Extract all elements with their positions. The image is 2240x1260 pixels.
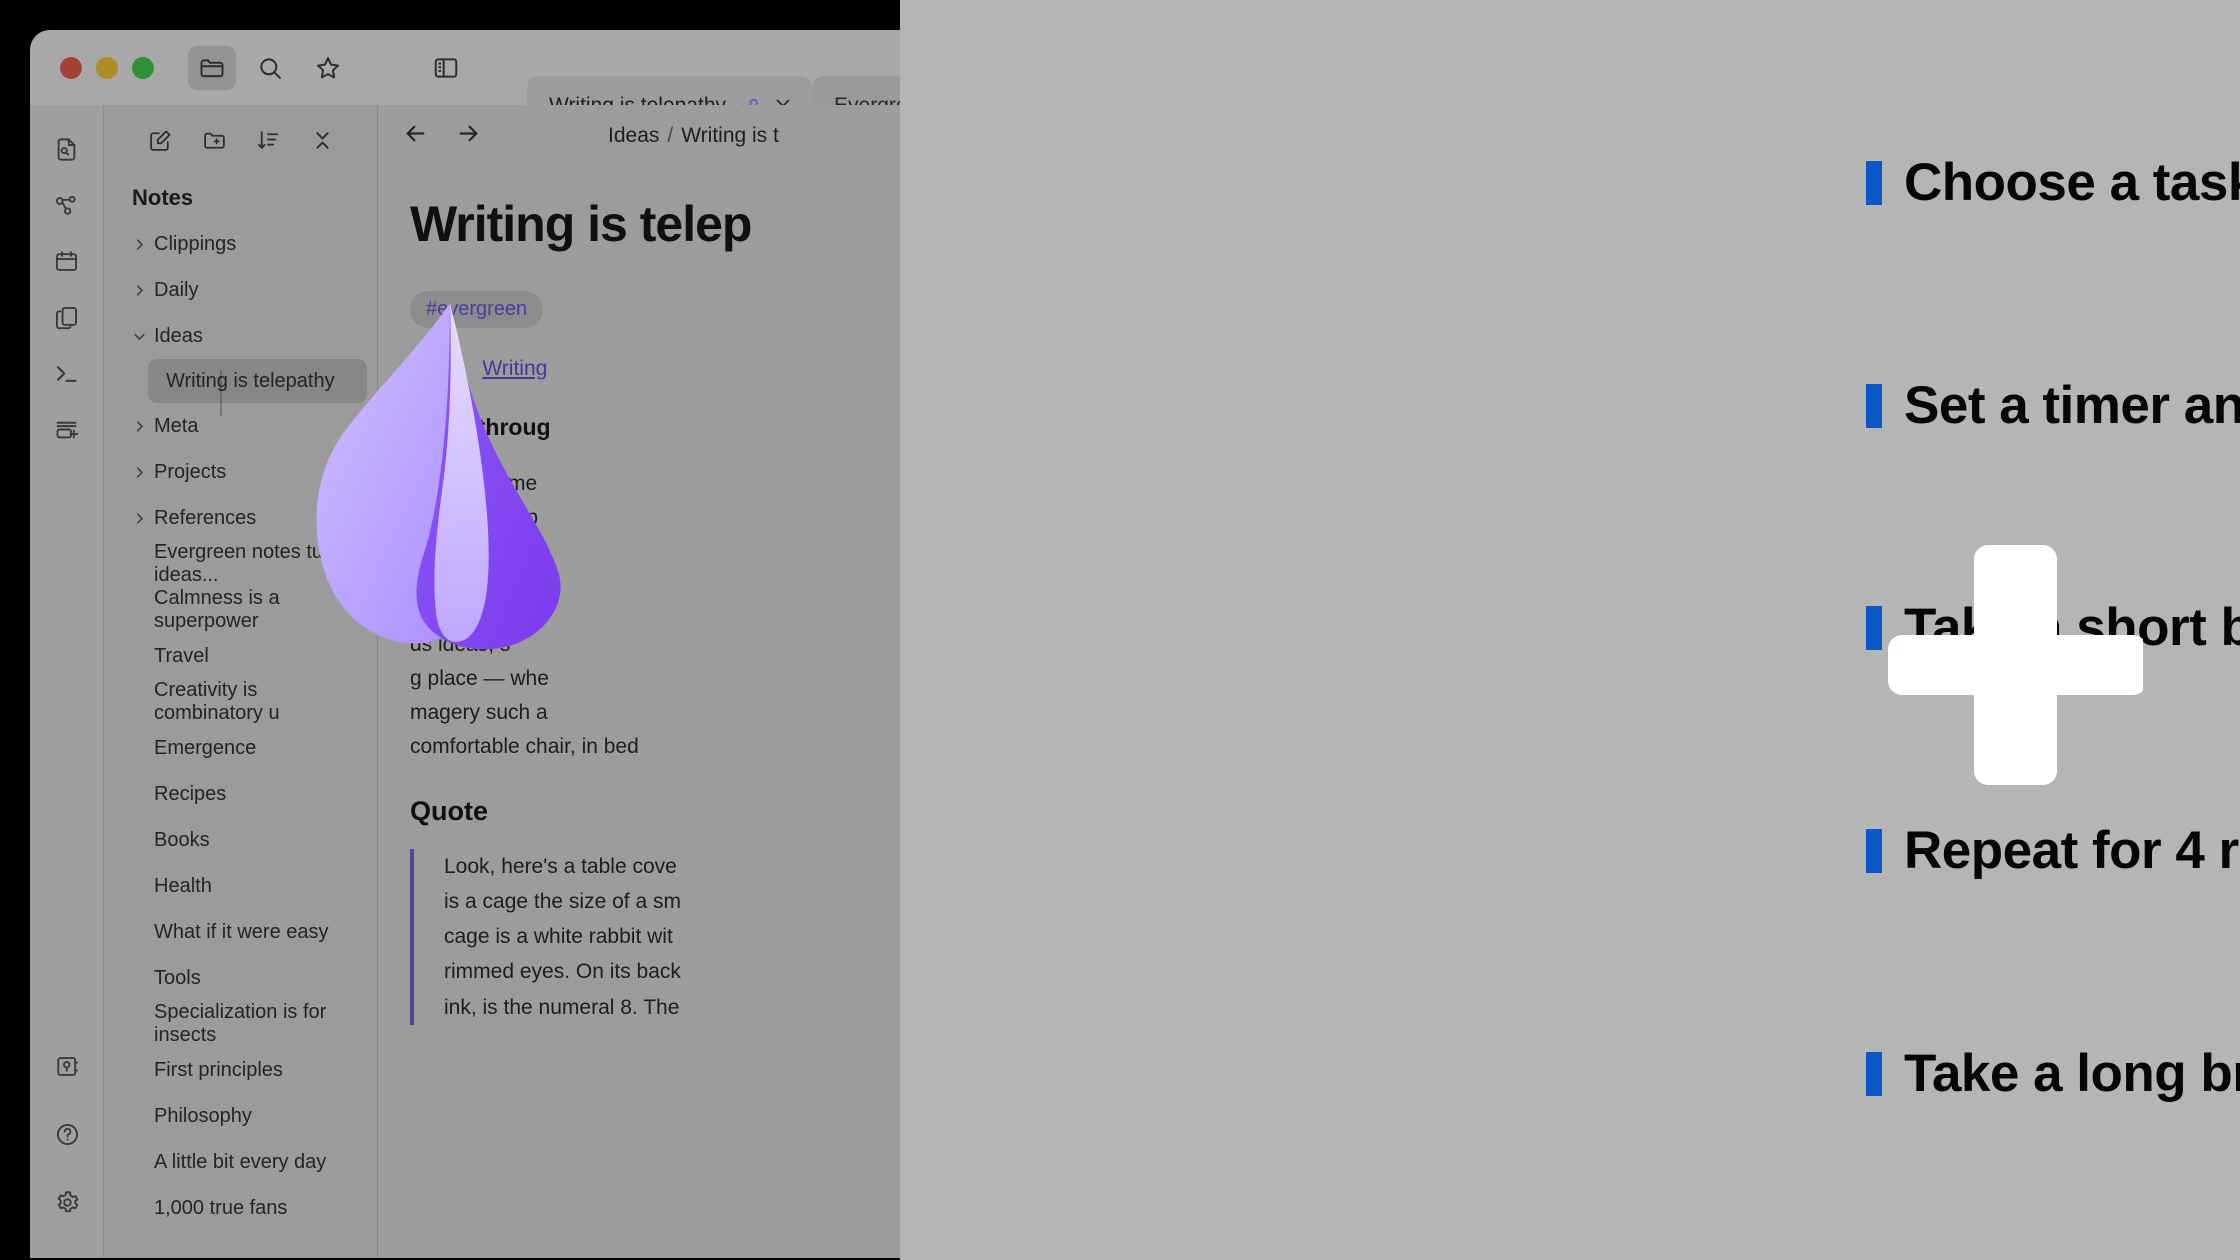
new-note-icon[interactable] (138, 119, 182, 161)
quote-line: ink, is the numeral 8. The (444, 990, 920, 1025)
bullet-marker (1866, 606, 1882, 650)
sidebar-item-ideas[interactable]: Ideas (104, 313, 367, 359)
list-item[interactable]: Travel (104, 633, 367, 679)
page-title: Writing is telep (410, 195, 920, 253)
chevron-down-icon (132, 329, 154, 344)
icon-rail-bottom (30, 1038, 104, 1230)
settings-gear-icon[interactable] (41, 1174, 93, 1230)
list-item[interactable]: What if it were easy (104, 909, 367, 955)
app-window: Writing is telepathy Evergre (30, 30, 920, 1258)
pomodoro-steps-list: Choose a task Set a timer and work for 2… (1866, 0, 2240, 1260)
add-panel-icon[interactable] (41, 401, 93, 457)
list-item[interactable]: Emergence (104, 725, 367, 771)
files-copy-icon[interactable] (41, 289, 93, 345)
sidebar-item-label: References (154, 507, 256, 530)
notes-tree: Clippings Daily Ideas Writing is telepat… (104, 221, 377, 1231)
body-line: e, a trans (410, 593, 920, 627)
list-item[interactable]: Evergreen notes turn ideas... (104, 541, 367, 587)
new-folder-icon[interactable] (192, 119, 236, 161)
file-search-icon[interactable] (41, 121, 93, 177)
sidebar-item-meta[interactable]: Meta (104, 403, 367, 449)
list-item: Set a timer and work for 25 minutes (1866, 375, 2240, 436)
sidebar-item-label: Tools (154, 967, 201, 990)
list-item[interactable]: Tools (104, 955, 367, 1001)
sidebar-item-label: Clippings (154, 233, 236, 256)
sidebar-item-label: Health (154, 875, 212, 898)
body-line: es: (410, 535, 920, 569)
sidebar-item-projects[interactable]: Projects (104, 449, 367, 495)
list-item: Choose a task (1866, 152, 2240, 213)
terminal-icon[interactable] (41, 345, 93, 401)
tag-evergreen[interactable]: #evergreen (410, 291, 543, 328)
list-item[interactable]: Specialization is for insects (104, 1001, 367, 1047)
breadcrumb-folder[interactable]: Ideas (608, 124, 659, 147)
sidebar-item-label: 1,000 true fans (154, 1197, 287, 1220)
overlay-panel: Choose a task Set a timer and work for 2… (900, 0, 2240, 1260)
sidebar-item-label: A little bit every day (154, 1151, 326, 1174)
help-icon[interactable] (41, 1106, 93, 1162)
list-item[interactable]: First principles (104, 1047, 367, 1093)
sidebar-item-label: Evergreen notes turn ideas... (154, 541, 367, 587)
icon-rail (30, 105, 104, 1258)
breadcrumb-separator: / (659, 124, 681, 147)
editor-pane: Ideas/Writing is t Writing is telep #eve… (378, 105, 920, 1258)
body-line: l through time (410, 467, 920, 501)
list-item[interactable]: Health (104, 863, 367, 909)
step-label: Choose a task (1904, 152, 2240, 213)
close-window-button[interactable] (60, 57, 82, 79)
note-document: Writing is telep #evergreen From Writing… (378, 167, 920, 1025)
sidebar-item-label: Specialization is for insects (154, 1001, 367, 1047)
body-line: g place — whe (410, 662, 920, 696)
notes-sidebar: Notes Clippings Daily Ideas Writing is t… (104, 105, 378, 1258)
step-label: Set a timer and work for 25 minutes (1904, 375, 2240, 436)
sidebar-item-label: Projects (154, 461, 226, 484)
bullet-marker (1866, 161, 1882, 205)
step-label: Take a long break for 15 - 30 minutes (1904, 1043, 2240, 1104)
list-item: Take a short break (1866, 597, 2240, 658)
section-heading: travel throug (410, 414, 920, 441)
chevron-right-icon (132, 283, 154, 298)
sidebar-item-label: Calmness is a superpower (154, 587, 367, 633)
bullet-marker (1866, 829, 1882, 873)
list-item[interactable]: A little bit every day (104, 1139, 367, 1185)
sidebar-item-clippings[interactable]: Clippings (104, 221, 367, 267)
chevron-right-icon (132, 465, 154, 480)
sidebar-item-daily[interactable]: Daily (104, 267, 367, 313)
quote-line: rimmed eyes. On its back (444, 954, 920, 989)
bullet-marker (1866, 1052, 1882, 1096)
sidebar-heading: Notes (104, 167, 377, 221)
graph-icon[interactable] (41, 177, 93, 233)
step-label: Take a short break (1904, 597, 2240, 658)
sidebar-item-label: Emergence (154, 737, 256, 760)
blockquote: Look, here's a table cove is a cage the … (410, 849, 920, 1025)
sidebar-item-label: Writing is telepathy (166, 370, 335, 393)
sidebar-item-label: Books (154, 829, 210, 852)
arrow-left-icon[interactable] (402, 120, 429, 152)
body-line: comfortable chair, in bed (410, 730, 920, 764)
chevron-right-icon (132, 419, 154, 434)
sidebar-item-label: Creativity is combinatory u (154, 679, 367, 725)
search-icon[interactable] (246, 46, 294, 90)
list-item[interactable]: Calmness is a superpower (104, 587, 367, 633)
tree-guide-line (220, 370, 222, 416)
sidebar-item-label: First principles (154, 1059, 283, 1082)
sidebar-item-writing-is-telepathy[interactable]: Writing is telepathy (148, 359, 367, 403)
zoom-window-button[interactable] (132, 57, 154, 79)
list-item[interactable]: 1,000 true fans (104, 1185, 367, 1231)
folder-icon[interactable] (188, 46, 236, 90)
chevron-right-icon (132, 511, 154, 526)
bullet-marker (1866, 384, 1882, 428)
quote-line: Look, here's a table cove (444, 849, 920, 884)
star-icon[interactable] (304, 46, 352, 90)
list-item[interactable]: Recipes (104, 771, 367, 817)
collapse-all-icon[interactable] (300, 119, 344, 161)
sidebar-item-label: Meta (154, 415, 198, 438)
sidebar-item-label: Daily (154, 279, 198, 302)
list-item[interactable]: Creativity is combinatory u (104, 679, 367, 725)
source-link[interactable]: Writing (482, 357, 547, 380)
list-item[interactable]: Philosophy (104, 1093, 367, 1139)
breadcrumb: Ideas/Writing is t (608, 124, 779, 148)
list-item: Take a long break for 15 - 30 minutes (1866, 1043, 2240, 1104)
sidebar-item-label: Philosophy (154, 1105, 252, 1128)
calendar-icon[interactable] (41, 233, 93, 289)
chevron-right-icon (132, 237, 154, 252)
sidebar-layout-icon[interactable] (422, 46, 470, 90)
body-line: ut loud. The p (410, 501, 920, 535)
sidebar-item-references[interactable]: References (104, 495, 367, 541)
body-line: ds ideas, s (410, 628, 920, 662)
arrow-right-icon[interactable] (455, 120, 482, 152)
source-prefix: From (410, 357, 459, 380)
quote-line: cage is a white rabbit wit (444, 919, 920, 954)
screen: Writing is telepathy Evergre (0, 0, 2240, 1260)
vault-icon[interactable] (41, 1038, 93, 1094)
step-label: Repeat for 4 rounds (1904, 820, 2240, 881)
tag-row: #evergreen (410, 291, 920, 328)
traffic-light-buttons[interactable] (60, 57, 154, 79)
sidebar-item-label: What if it were easy (154, 921, 329, 944)
list-item[interactable]: Books (104, 817, 367, 863)
breadcrumb-note[interactable]: Writing is t (681, 124, 779, 147)
editor-navbar: Ideas/Writing is t (378, 105, 920, 167)
sidebar-item-label: Ideas (154, 325, 203, 348)
window-toolbar (188, 46, 470, 90)
sort-icon[interactable] (246, 119, 290, 161)
minimize-window-button[interactable] (96, 57, 118, 79)
list-item: Repeat for 4 rounds (1866, 820, 2240, 881)
quote-heading: Quote (410, 796, 920, 827)
source-line: From Writing (410, 354, 920, 384)
sidebar-item-label: Recipes (154, 783, 226, 806)
quote-line: is a cage the size of a sm (444, 884, 920, 919)
body-line: magery such a (410, 696, 920, 730)
sidebar-item-label: Travel (154, 645, 209, 668)
sidebar-toolbar (104, 105, 377, 167)
